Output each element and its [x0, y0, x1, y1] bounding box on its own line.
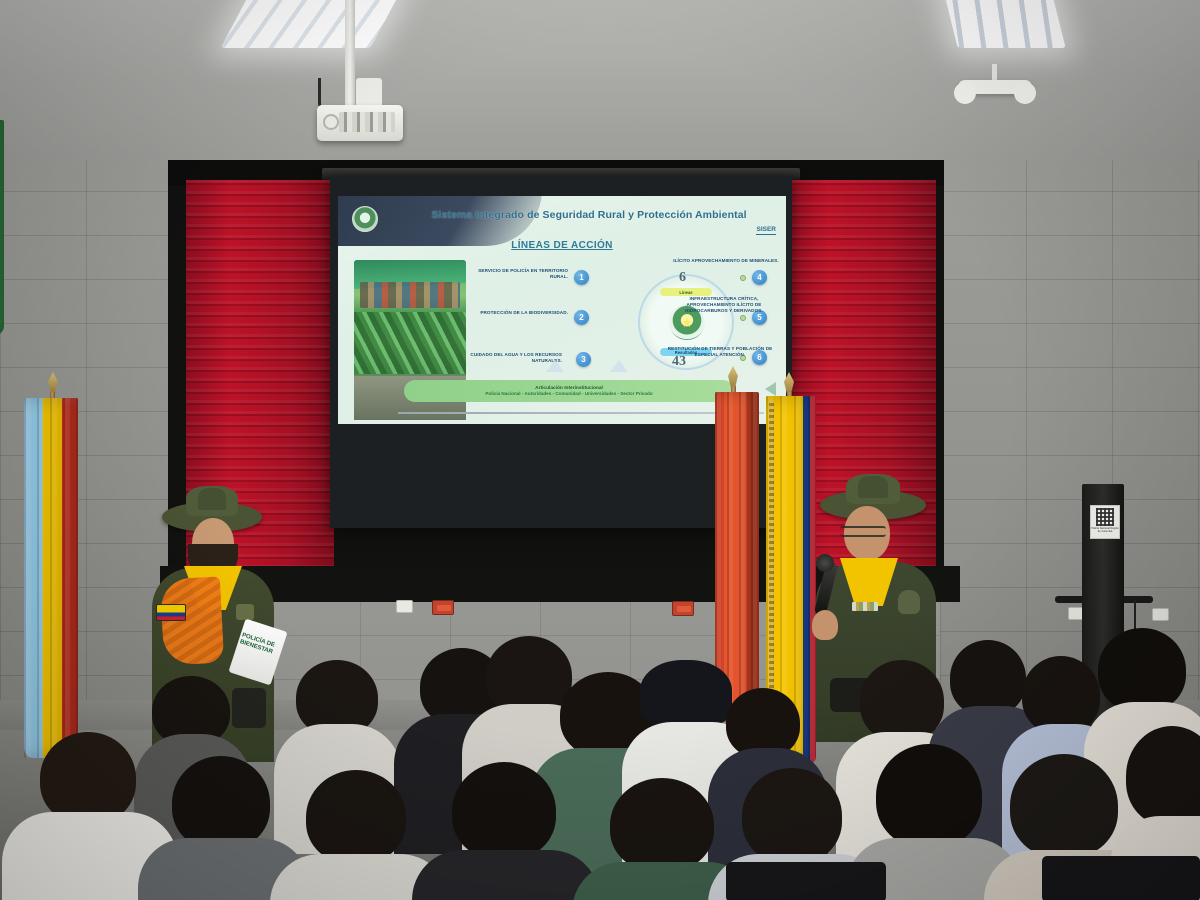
- ceiling-projector-icon: [317, 105, 403, 141]
- audience-head: [950, 640, 1026, 716]
- officer-left-shoulder-badge: [236, 604, 254, 620]
- presentation-slide: Sistema Integrado de Seguridad Rural y P…: [338, 196, 786, 424]
- projector-lens-icon: [323, 114, 339, 130]
- action-line-1-number: 1: [574, 270, 589, 285]
- action-line-2-number: 2: [574, 310, 589, 325]
- action-line-4-label: ILÍCITO APROVECHAMIENTO DE MINERALES.: [672, 258, 780, 264]
- officer-left-aiguillette: [160, 576, 224, 665]
- speaker-stand-label-text: Policía Nacional Región de Colombia: [1091, 527, 1119, 533]
- photo-crops: [354, 312, 466, 374]
- flag-drape-middle-inner: [0, 120, 4, 335]
- microphone-head-icon: [816, 554, 834, 572]
- action-line-4-number: 4: [752, 270, 767, 285]
- chair-back: [1042, 856, 1200, 900]
- audience-head: [172, 756, 270, 850]
- audience-head: [860, 660, 944, 742]
- action-line-5-label: INFRAESTRUCTURA CRÍTICA, APROVECHAMIENTO…: [670, 296, 778, 315]
- power-outlet-1[interactable]: [432, 600, 454, 615]
- officer-right-shoulder-patch: [898, 590, 920, 614]
- audience-head: [452, 762, 556, 860]
- officer-left-belt-pouch: [232, 688, 266, 728]
- baseball-cap-icon: [640, 660, 732, 726]
- connector-dot-5: [740, 315, 746, 321]
- audience-head: [876, 744, 982, 848]
- action-line-3-number: 3: [576, 352, 591, 367]
- colombia-flag-patch-icon: [156, 604, 186, 621]
- slide-acronym: SISER: [756, 226, 776, 235]
- connector-dot-4: [740, 275, 746, 281]
- officer-right-hand: [812, 610, 838, 640]
- audience-head: [1010, 754, 1118, 858]
- arrow-left-icon: [765, 382, 776, 396]
- audience-head: [40, 732, 136, 824]
- slide-title: Sistema Integrado de Seguridad Rural y P…: [400, 209, 778, 221]
- light-switch[interactable]: [396, 600, 413, 613]
- fluorescent-ceiling-light-left: [221, 0, 402, 48]
- action-line-2-label: PROTECCIÓN DE LA BIODIVERSIDAD.: [476, 310, 568, 316]
- audience-head: [1098, 628, 1186, 712]
- power-outlet-2[interactable]: [672, 601, 694, 616]
- campaign-hat-pinch-right: [858, 476, 888, 498]
- power-outlet-3[interactable]: [1152, 608, 1169, 621]
- action-line-6-label: RESTITUCIÓN DE TIERRAS Y POBLACIÓN DE ES…: [666, 346, 774, 358]
- fluorescent-ceiling-light-right: [942, 0, 1065, 48]
- twin-spotlight-icon: [958, 80, 1032, 94]
- campaign-hat-pinch: [198, 488, 226, 510]
- audience-head: [610, 778, 714, 872]
- officer-right-ribbon-bar: [852, 602, 878, 611]
- flag-drape-left: [24, 398, 78, 758]
- slide-footer-bar: Articulación Interinstitucional Policía …: [404, 380, 734, 402]
- audience-head: [306, 770, 406, 864]
- action-line-1-label: SERVICIO DE POLICÍA EN TERRITORIO RURAL.: [476, 268, 568, 280]
- chair-back: [726, 862, 886, 900]
- star-icon: ★: [681, 316, 693, 329]
- footer-bar-subtitle: Policía Nacional - Autoridades - Comunid…: [485, 391, 652, 396]
- projector-ports: [339, 112, 395, 132]
- auditorium-scene: Sistema Integrado de Seguridad Rural y P…: [0, 0, 1200, 900]
- arrow-up-icon-2: [610, 360, 628, 372]
- speaker-stand-label: Policía Nacional Región de Colombia: [1090, 505, 1120, 539]
- slide-section-heading: LÍNEAS DE ACCIÓN: [338, 240, 786, 251]
- photo-people: [360, 282, 460, 308]
- glasses-icon: [840, 526, 886, 537]
- arrow-up-icon-1: [546, 360, 564, 372]
- policia-nacional-emblem-icon: [352, 206, 378, 232]
- audience-shoulders: [412, 850, 600, 900]
- slide-footer-rule: [398, 412, 764, 414]
- slide-lines-count: 6: [679, 270, 686, 286]
- audience-head: [742, 768, 842, 864]
- qr-code-icon: [1096, 508, 1114, 526]
- audience-head: [1022, 656, 1100, 734]
- slide-lines-chip: Líneas: [660, 288, 712, 296]
